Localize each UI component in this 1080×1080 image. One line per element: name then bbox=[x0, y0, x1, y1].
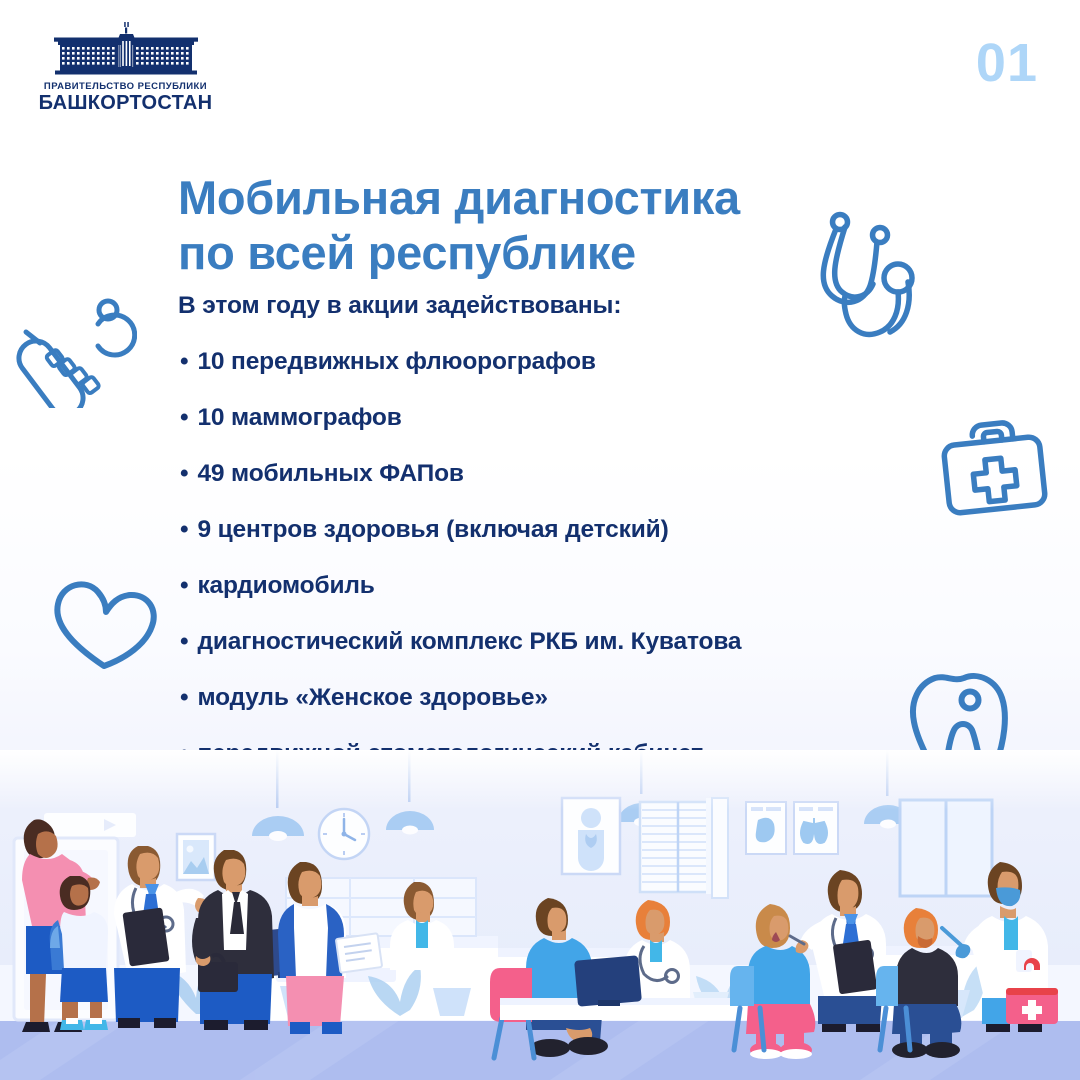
bullet-marker: • bbox=[180, 516, 188, 543]
list-item-label: диагностический комплекс РКБ им. Куватов… bbox=[197, 628, 741, 655]
first-aid-kit-icon bbox=[932, 412, 1056, 522]
list-item: •9 центров здоровья (включая детский) bbox=[180, 516, 1010, 544]
wall-clock bbox=[319, 809, 369, 859]
bullet-marker: • bbox=[180, 460, 188, 487]
list-item-label: 49 мобильных ФАПов bbox=[197, 460, 463, 487]
clinic-scene-illustration bbox=[0, 750, 1080, 1080]
page-title-line-2: по всей республике bbox=[178, 226, 636, 279]
list-item: •диагностический комплекс РКБ им. Кувато… bbox=[180, 628, 1010, 656]
bullet-marker: • bbox=[180, 628, 188, 655]
page-number: 01 bbox=[976, 36, 1038, 90]
government-building-icon bbox=[50, 20, 202, 76]
wall-picture bbox=[177, 834, 215, 880]
list-item-label: 9 центров здоровья (включая детский) bbox=[197, 516, 668, 543]
list-item-label: кардиомобиль bbox=[197, 572, 374, 599]
page-title-line-1: Мобильная диагностика bbox=[178, 171, 740, 224]
list-item: •кардиомобиль bbox=[180, 572, 1010, 600]
logo-subtitle: ПРАВИТЕЛЬСТВО РЕСПУБЛИКИ bbox=[38, 81, 213, 92]
list-item-label: 10 маммографов bbox=[197, 404, 401, 431]
list-item: •10 маммографов bbox=[180, 404, 1010, 432]
bullet-marker: • bbox=[180, 404, 188, 431]
list-item: •49 мобильных ФАПов bbox=[180, 460, 1010, 488]
list-item-label: модуль «Женское здоровье» bbox=[197, 684, 547, 711]
bullet-marker: • bbox=[180, 684, 188, 711]
bullet-marker: • bbox=[180, 572, 188, 599]
government-logo: ПРАВИТЕЛЬСТВО РЕСПУБЛИКИ БАШКОРТОСТАН bbox=[38, 20, 213, 113]
thermometer-icon bbox=[12, 288, 137, 408]
logo-title: БАШКОРТОСТАН bbox=[38, 93, 213, 113]
direction-sign bbox=[44, 813, 136, 837]
window-blinds-left bbox=[712, 798, 728, 898]
list-item: •модуль «Женское здоровье» bbox=[180, 684, 1010, 712]
stethoscope-icon bbox=[812, 202, 952, 354]
bullet-marker: • bbox=[180, 348, 188, 375]
slide-root: ПРАВИТЕЛЬСТВО РЕСПУБЛИКИ БАШКОРТОСТАН 01… bbox=[0, 0, 1080, 1080]
list-item-label: 10 передвижных флюорографов bbox=[197, 348, 595, 375]
intro-text: В этом году в акции задействованы: bbox=[178, 292, 621, 320]
heart-icon bbox=[48, 572, 166, 674]
bullet-list: •10 передвижных флюорографов •10 маммогр… bbox=[180, 348, 1010, 796]
